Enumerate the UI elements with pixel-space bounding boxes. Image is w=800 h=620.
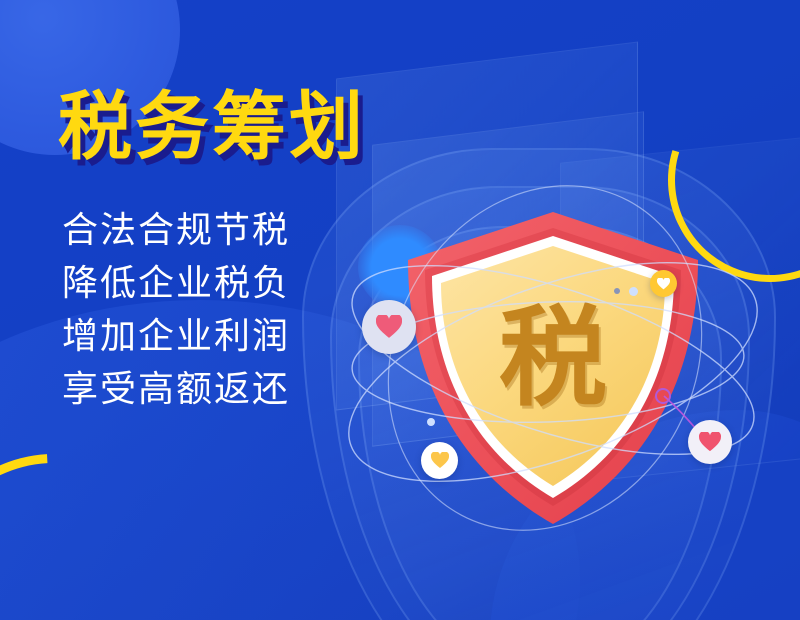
shield-graphic: 税: [398, 208, 708, 528]
benefit-list: 合法合规节税 降低企业税负 增加企业利润 享受高额返还: [62, 212, 366, 407]
benefit-item-3: 增加企业利润: [62, 318, 366, 354]
heart-badge-pink-left: [362, 300, 416, 354]
heart-badge-gold-mid: [421, 442, 458, 479]
heart-icon: [657, 278, 670, 290]
tax-planning-banner: 税 税务筹划: [0, 0, 800, 620]
orbit-dot-small-left: [427, 418, 435, 426]
benefit-item-1: 合法合规节税: [62, 212, 366, 248]
page-title: 税务筹划: [58, 88, 366, 166]
yellow-arc-bottom-left-decor: [0, 399, 243, 620]
heart-icon: [699, 432, 721, 452]
orbit-dot-small-right: [629, 287, 638, 296]
headline-block: 税务筹划 合法合规节税 降低企业税负 增加企业利润 享受高额返还: [58, 88, 366, 424]
orbit-dot-dark: [614, 288, 620, 294]
benefit-item-4: 享受高额返还: [62, 371, 366, 407]
heart-icon: [431, 452, 449, 469]
benefit-item-2: 降低企业税负: [62, 265, 366, 301]
heart-badge-white-top: [650, 270, 677, 297]
heart-badge-pink-right: [688, 420, 732, 464]
heart-icon: [376, 315, 402, 339]
purple-ring-decor: [655, 388, 671, 404]
